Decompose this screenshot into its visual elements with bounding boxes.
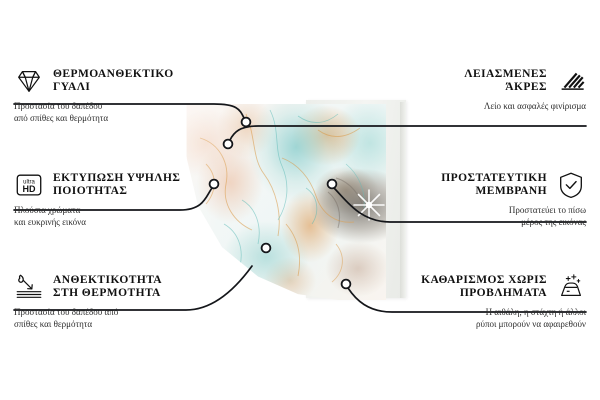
feature-title: ΑΝΘΕΚΤΙΚΟΤΗΤΑ ΣΤΗ ΘΕΡΜΟΤΗΤΑ	[53, 274, 162, 301]
feature-header: ΘΕΡΜΟΑΝΘΕΚΤΙΚΟ ΓΥΑΛΙ	[14, 66, 190, 96]
glass-reflection	[186, 104, 386, 300]
feature-header: ΠΡΟΣΤΑΤΕΥΤΙΚΗ ΜΕΜΒΡΑΝΗ	[398, 170, 586, 200]
feature-header: ultra HD ΕΚΤΥΠΩΣΗ ΥΨΗΛΗΣ ΠΟΙΟΤΗΤΑΣ	[14, 170, 190, 200]
feature-header: ΚΑΘΑΡΙΣΜΟΣ ΧΩΡΙΣ ΠΡΟΒΛΗΜΑΤΑ	[390, 272, 586, 302]
easy-cleaning-icon	[556, 272, 586, 302]
feature-description: Πλούσια χρώματα και ευκρινής εικόνα	[14, 205, 190, 228]
feature-easy-cleaning: ΚΑΘΑΡΙΣΜΟΣ ΧΩΡΙΣ ΠΡΟΒΛΗΜΑΤΑ Η αιθάλη, η …	[390, 272, 586, 330]
feature-title: ΕΚΤΥΠΩΣΗ ΥΨΗΛΗΣ ΠΟΙΟΤΗΤΑΣ	[53, 172, 180, 199]
feature-title: ΛΕΙΑΣΜΕΝΕΣ ΆΚΡΕΣ	[464, 68, 547, 95]
heat-resistance-icon	[14, 272, 44, 302]
feature-title: ΠΡΟΣΤΑΤΕΥΤΙΚΗ ΜΕΜΒΡΑΝΗ	[441, 172, 547, 199]
feature-description: Λείο και ασφαλές φινίρισμα	[398, 101, 586, 113]
feature-header: ΛΕΙΑΣΜΕΝΕΣ ΆΚΡΕΣ	[398, 66, 586, 96]
infographic-canvas: ΘΕΡΜΟΑΝΘΕΚΤΙΚΟ ΓΥΑΛΙ Προστασία του δαπέδ…	[0, 0, 600, 400]
feature-heat-resistant-glass: ΘΕΡΜΟΑΝΘΕΚΤΙΚΟ ΓΥΑΛΙ Προστασία του δαπέδ…	[14, 66, 190, 124]
feature-heat-resistance: ΑΝΘΕΚΤΙΚΟΤΗΤΑ ΣΤΗ ΘΕΡΜΟΤΗΤΑ Προστασία το…	[14, 272, 190, 330]
hd-label: HD	[23, 184, 36, 194]
feature-description: Προστατεύει το πίσω μέρος της εικόνας	[398, 205, 586, 228]
diamond-icon	[14, 66, 44, 96]
feature-description: Η αιθάλη, η στάχτη ή άλλοι ρύποι μπορούν…	[390, 307, 586, 330]
ultra-hd-icon: ultra HD	[14, 170, 44, 200]
product-glass-panel	[186, 104, 386, 300]
feature-description: Προστασία του δαπέδου από σπίθες και θερ…	[14, 307, 190, 330]
feature-high-quality-print: ultra HD ΕΚΤΥΠΩΣΗ ΥΨΗΛΗΣ ΠΟΙΟΤΗΤΑΣ Πλούσ…	[14, 170, 190, 228]
feature-title: ΚΑΘΑΡΙΣΜΟΣ ΧΩΡΙΣ ΠΡΟΒΛΗΜΑΤΑ	[421, 274, 547, 301]
product-image	[176, 92, 426, 322]
feature-header: ΑΝΘΕΚΤΙΚΟΤΗΤΑ ΣΤΗ ΘΕΡΜΟΤΗΤΑ	[14, 272, 190, 302]
feature-protective-membrane: ΠΡΟΣΤΑΤΕΥΤΙΚΗ ΜΕΜΒΡΑΝΗ Προστατεύει το πί…	[398, 170, 586, 228]
feature-smooth-edges: ΛΕΙΑΣΜΕΝΕΣ ΆΚΡΕΣ Λείο και ασφαλές φινίρι…	[398, 66, 586, 113]
smooth-edges-icon	[556, 66, 586, 96]
feature-title: ΘΕΡΜΟΑΝΘΕΚΤΙΚΟ ΓΥΑΛΙ	[53, 68, 174, 95]
feature-description: Προστασία του δαπέδου από σπίθες και θερ…	[14, 101, 190, 124]
shield-check-icon	[556, 170, 586, 200]
